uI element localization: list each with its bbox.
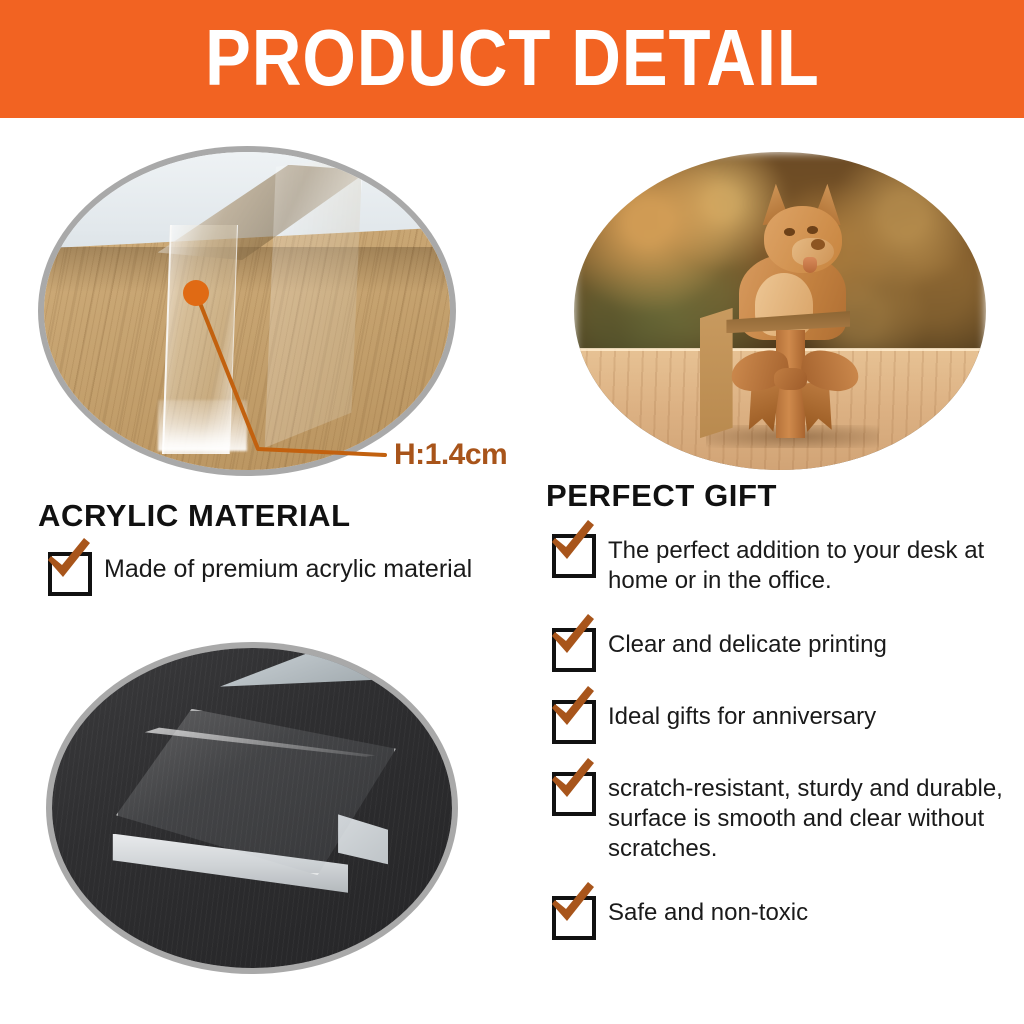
list-item: Clear and delicate printing: [548, 622, 1004, 668]
photo-dog-gift-box: [574, 152, 986, 470]
checkmark-icon: [546, 878, 600, 932]
checkmark-icon: [546, 682, 600, 736]
checkbox-checked[interactable]: [548, 766, 594, 812]
list-item-label: Made of premium acrylic material: [104, 546, 472, 584]
header-banner: PRODUCT DETAIL: [0, 0, 1024, 118]
photo-inner: [44, 152, 450, 470]
checkmark-icon: [42, 534, 96, 588]
list-item: Ideal gifts for anniversary: [548, 694, 1004, 740]
dog-tongue: [803, 257, 818, 273]
photo-acrylic-slab: [52, 648, 452, 968]
checkmark-icon: [546, 516, 600, 570]
section-heading-perfect-gift: PERFECT GIFT: [546, 478, 777, 514]
checkmark-icon: [546, 610, 600, 664]
list-item-label: The perfect addition to your desk at hom…: [608, 528, 1004, 596]
list-item-label: Clear and delicate printing: [608, 622, 887, 660]
acrylic-base-highlight: [158, 400, 247, 451]
page-title: PRODUCT DETAIL: [205, 18, 820, 98]
list-item: The perfect addition to your desk at hom…: [548, 528, 1004, 596]
list-item-label: Ideal gifts for anniversary: [608, 694, 876, 732]
section-heading-acrylic-material: ACRYLIC MATERIAL: [38, 498, 351, 534]
checkbox-checked[interactable]: [548, 890, 594, 936]
photo-inner: [52, 648, 452, 968]
feature-list-perfect-gift: The perfect addition to your desk at hom…: [548, 528, 1004, 962]
list-item-label: Safe and non-toxic: [608, 890, 808, 928]
checkbox-checked[interactable]: [548, 528, 594, 574]
list-item: Safe and non-toxic: [548, 890, 1004, 936]
checkbox-checked[interactable]: [548, 694, 594, 740]
list-item: scratch-resistant, sturdy and durable, s…: [548, 766, 1004, 864]
bow-knot: [774, 368, 807, 390]
photo-acrylic-edge-thickness: [44, 152, 450, 470]
list-item: Made of premium acrylic material: [44, 546, 514, 592]
photo-inner: [574, 152, 986, 470]
dog-eye-left: [784, 228, 795, 236]
feature-list-acrylic-material: Made of premium acrylic material: [44, 546, 514, 592]
list-item-label: scratch-resistant, sturdy and durable, s…: [608, 766, 1004, 864]
dog-eye-right: [807, 226, 818, 234]
checkmark-icon: [546, 754, 600, 808]
checkbox-checked[interactable]: [44, 546, 90, 592]
checkbox-checked[interactable]: [548, 622, 594, 668]
callout-label: H:1.4cm: [394, 438, 507, 472]
